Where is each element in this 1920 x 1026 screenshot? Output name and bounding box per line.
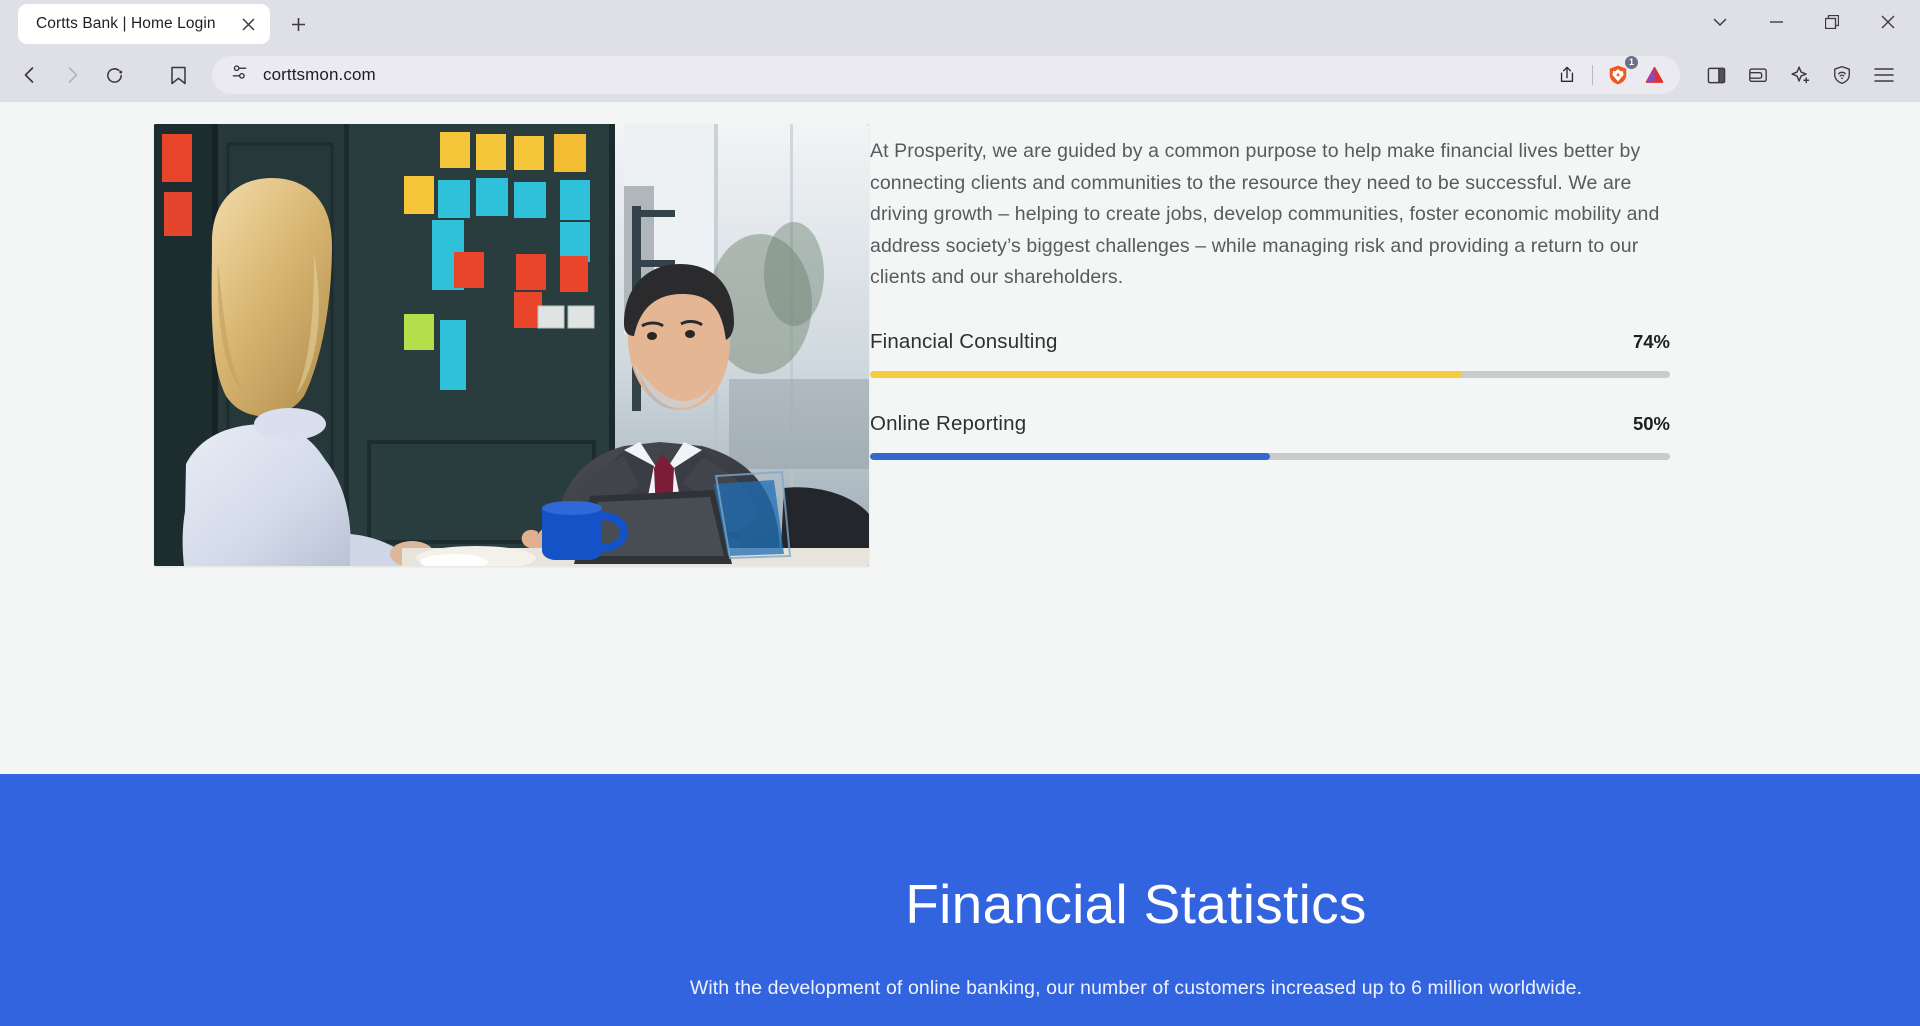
skill-percent: 74%: [1633, 331, 1670, 353]
sidebar-panel-icon[interactable]: [1696, 55, 1736, 95]
url-actions: 1: [1551, 59, 1670, 91]
sparkle-ai-icon[interactable]: [1780, 55, 1820, 95]
meeting-photo-illustration: [154, 124, 869, 566]
statistics-title: Financial Statistics: [0, 874, 1920, 935]
tab-close-icon[interactable]: [236, 12, 260, 36]
statistics-inner: Financial Statistics With the developmen…: [0, 774, 1920, 1004]
back-icon[interactable]: [10, 55, 50, 95]
browser-window: Cortts Bank | Home Login: [0, 0, 1920, 1026]
browser-toolbar-right: [1696, 55, 1904, 95]
statistics-subtitle: With the development of online banking, …: [686, 973, 1586, 1004]
about-text-column: At Prosperity, we are guided by a common…: [870, 124, 1920, 566]
skill-bars-group: Financial Consulting 74% Online Reportin…: [870, 330, 1670, 460]
skill-label: Financial Consulting: [870, 330, 1058, 354]
new-tab-button[interactable]: [282, 8, 314, 40]
minimize-button[interactable]: [1748, 1, 1804, 43]
bookmark-icon[interactable]: [158, 55, 198, 95]
reload-icon[interactable]: [94, 55, 134, 95]
brave-rewards-icon[interactable]: [1638, 59, 1670, 91]
url-text[interactable]: corttsmon.com: [263, 65, 1551, 85]
skill-item: Online Reporting 50%: [870, 412, 1670, 460]
skill-header: Financial Consulting 74%: [870, 330, 1670, 354]
skill-label: Online Reporting: [870, 412, 1026, 436]
progress-fill: [870, 453, 1270, 460]
skill-percent: 50%: [1633, 413, 1670, 435]
window-controls: [1692, 0, 1916, 44]
meeting-photo: [154, 124, 869, 566]
web-page-content: At Prosperity, we are guided by a common…: [0, 102, 1920, 1026]
tab-search-button[interactable]: [1692, 1, 1748, 43]
progress-track: [870, 371, 1670, 378]
maximize-button[interactable]: [1804, 1, 1860, 43]
progress-track: [870, 453, 1670, 460]
progress-fill: [870, 371, 1462, 378]
share-icon[interactable]: [1551, 59, 1583, 91]
brave-shields-icon[interactable]: 1: [1602, 59, 1634, 91]
hamburger-menu-icon[interactable]: [1864, 55, 1904, 95]
skill-item: Financial Consulting 74%: [870, 330, 1670, 378]
shields-badge-count: 1: [1625, 56, 1638, 69]
about-photo-column: [0, 124, 870, 566]
wallet-icon[interactable]: [1738, 55, 1778, 95]
about-section: At Prosperity, we are guided by a common…: [0, 102, 1920, 566]
tab-title: Cortts Bank | Home Login: [36, 15, 236, 33]
tab-strip: Cortts Bank | Home Login: [0, 0, 1920, 48]
financial-statistics-section: Financial Statistics With the developmen…: [0, 774, 1920, 1026]
toolbar-divider: [1592, 65, 1593, 85]
forward-icon[interactable]: [52, 55, 92, 95]
page-viewport: At Prosperity, we are guided by a common…: [0, 102, 1920, 1026]
site-settings-icon[interactable]: [230, 63, 249, 87]
skill-header: Online Reporting 50%: [870, 412, 1670, 436]
url-bar[interactable]: corttsmon.com 1: [212, 56, 1680, 94]
close-window-button[interactable]: [1860, 1, 1916, 43]
about-lead-paragraph: At Prosperity, we are guided by a common…: [870, 136, 1670, 294]
navigation-toolbar: corttsmon.com 1: [0, 48, 1920, 102]
browser-tab-active[interactable]: Cortts Bank | Home Login: [18, 4, 270, 44]
vpn-shield-icon[interactable]: [1822, 55, 1862, 95]
